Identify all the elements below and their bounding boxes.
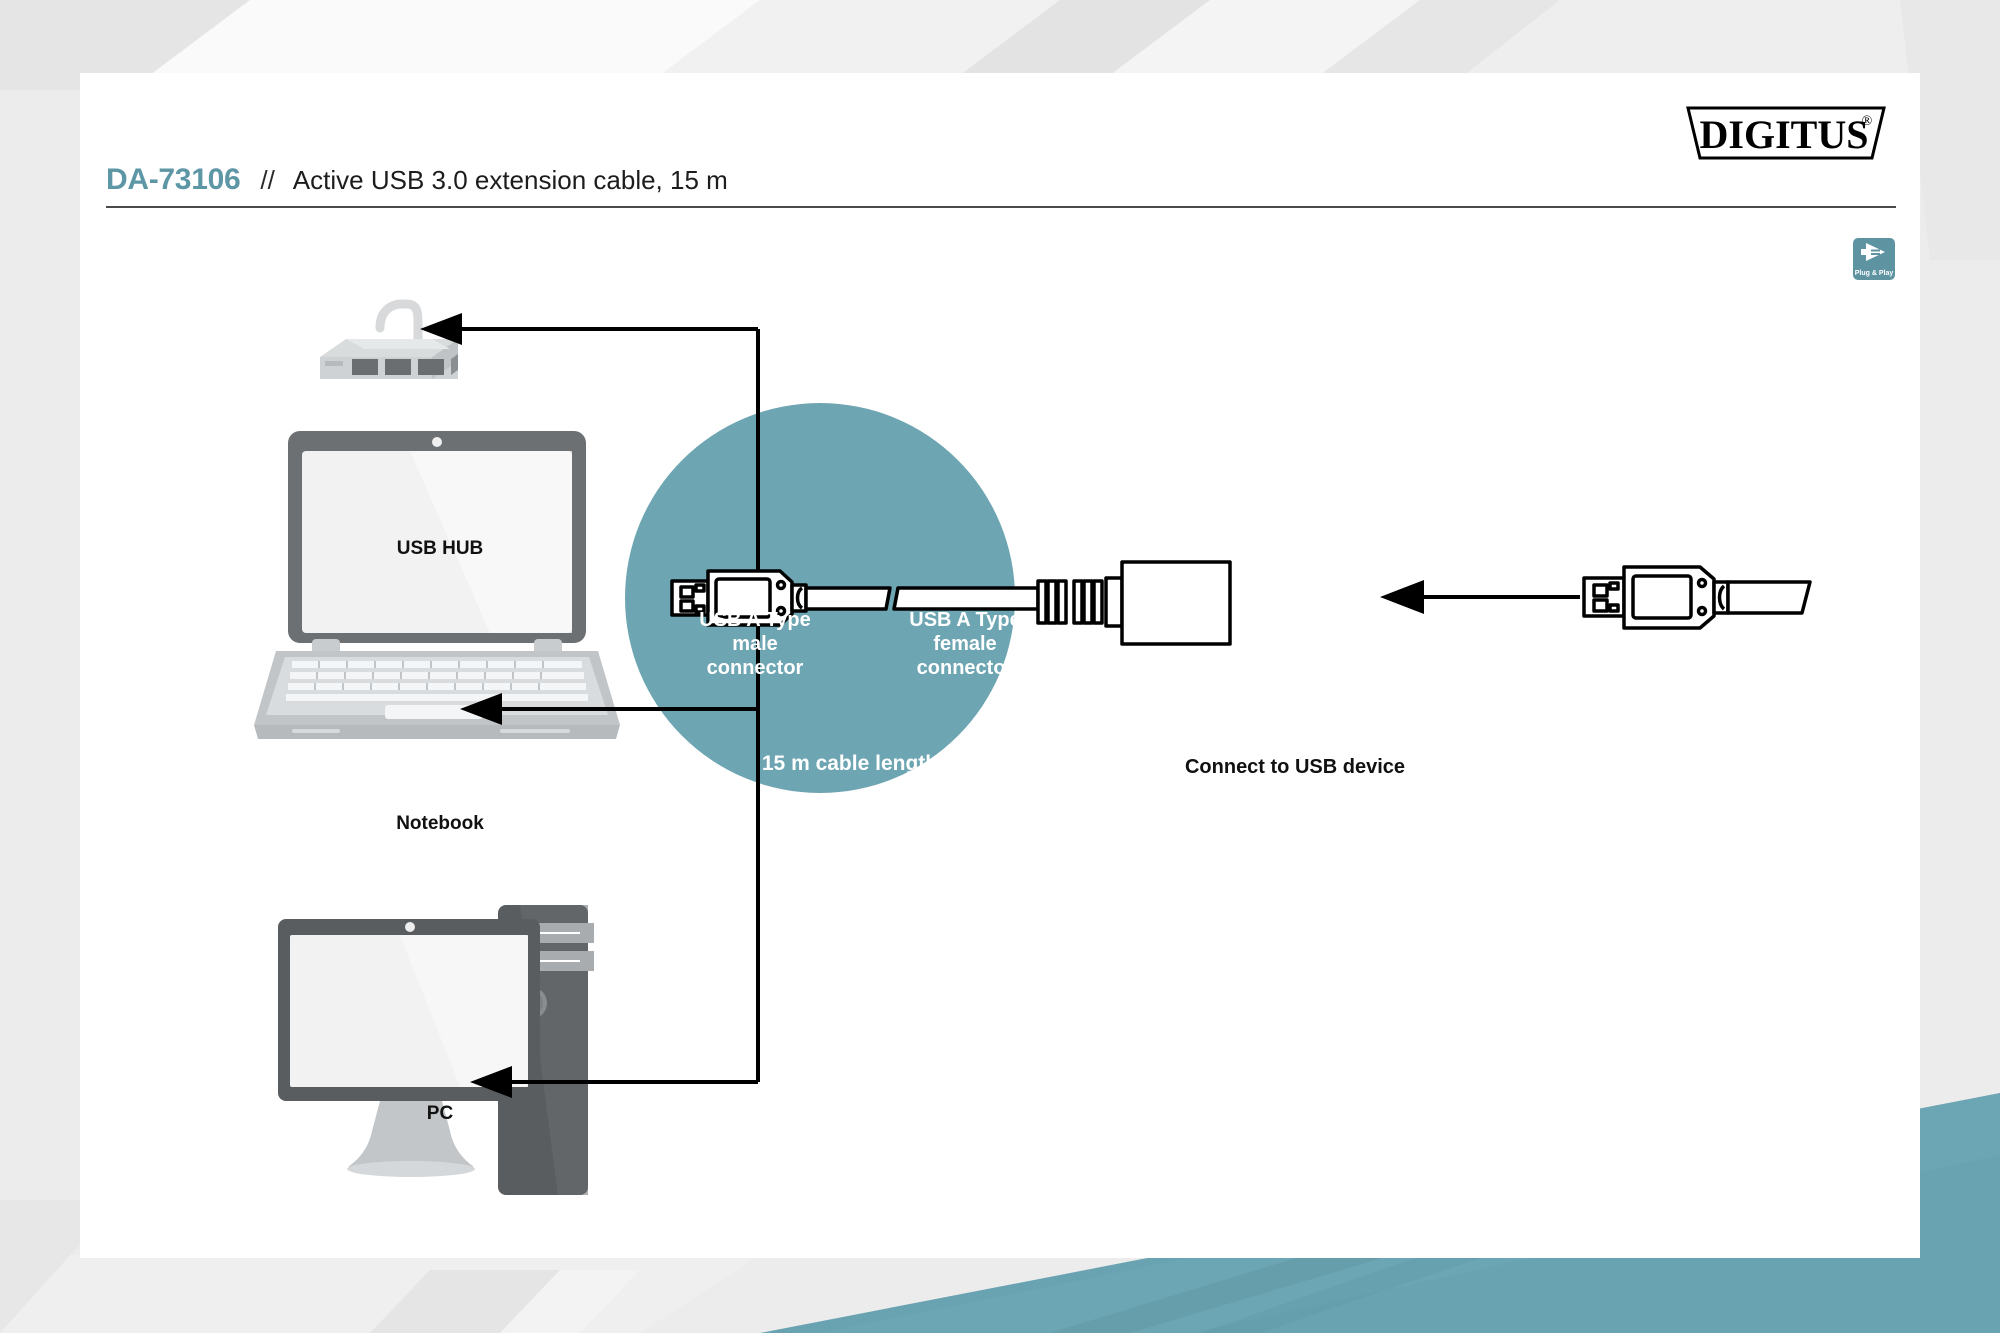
female-connector-label: USB A Type female connector (850, 608, 1080, 680)
male-connector-label: USB A Type male connector (640, 608, 870, 680)
desktop-pc-icon (278, 905, 594, 1195)
right-connection-line (1380, 580, 1580, 614)
arrowhead-usb-device (1380, 580, 1424, 614)
usb-hub-icon (320, 304, 458, 379)
connection-diagram: USB HUB Notebook PC Connect to USB devic… (80, 73, 1920, 1258)
cable-length-label: 15 m cable length (690, 752, 1010, 776)
connect-to-usb-device-label: Connect to USB device (1085, 756, 1505, 779)
usb-a-plug-icon (1584, 567, 1810, 628)
device-label-notebook: Notebook (330, 813, 550, 835)
device-label-pc: PC (330, 1103, 550, 1125)
content-card: DIGITUS ® DA-73106 // Active USB 3.0 ext… (80, 73, 1920, 1258)
device-label-usb-hub: USB HUB (330, 538, 550, 560)
notebook-icon (254, 431, 620, 739)
